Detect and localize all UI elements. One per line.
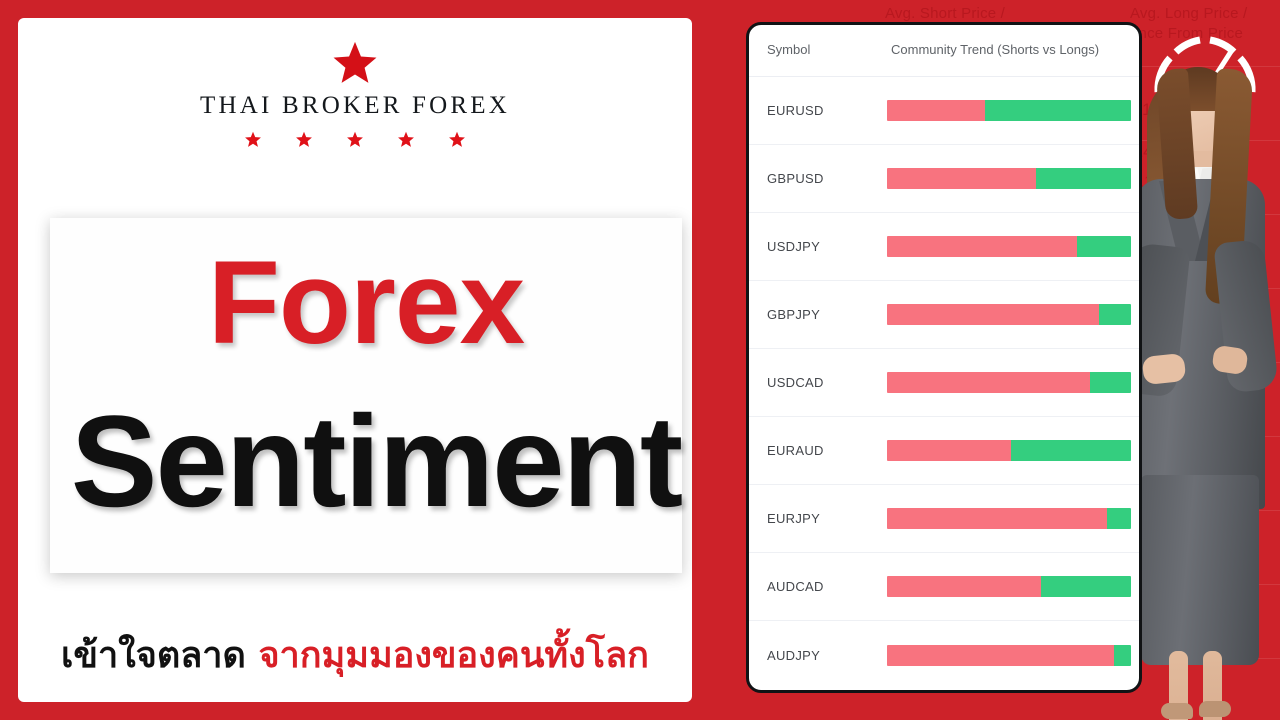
sentiment-bar-longs <box>1041 576 1131 597</box>
bg-column-header-short: Avg. Short Price / <box>885 4 1005 24</box>
subtitle-red-part: จากมุมมองของคนทั้งโลก <box>258 635 649 676</box>
column-header-symbol: Symbol <box>767 42 810 57</box>
table-row[interactable]: GBPUSD <box>749 145 1139 213</box>
headline-line-1: Forex <box>50 244 682 362</box>
table-row[interactable]: EURAUD <box>749 417 1139 485</box>
sentiment-bar-longs <box>1114 645 1131 666</box>
star-icon <box>295 131 313 148</box>
sentiment-bar <box>887 440 1131 461</box>
subtitle-black-part: เข้าใจตลาด <box>61 635 246 676</box>
table-row[interactable]: EURUSD <box>749 77 1139 145</box>
sentiment-bar-shorts <box>887 372 1090 393</box>
sentiment-bar-shorts <box>887 168 1036 189</box>
row-symbol: USDCAD <box>767 375 824 390</box>
row-symbol: AUDJPY <box>767 648 820 663</box>
sentiment-bar-longs <box>1036 168 1131 189</box>
sentiment-bar-shorts <box>887 645 1114 666</box>
table-row[interactable]: GBPJPY <box>749 281 1139 349</box>
sentiment-bar <box>887 576 1131 597</box>
row-symbol: GBPJPY <box>767 307 820 322</box>
star-icon <box>448 131 466 148</box>
sentiment-table-header: Symbol Community Trend (Shorts vs Longs) <box>749 25 1139 77</box>
sentiment-bar <box>887 645 1131 666</box>
row-symbol: GBPUSD <box>767 171 824 186</box>
sentiment-bar <box>887 100 1131 121</box>
brand-name: THAI BROKER FOREX <box>18 92 692 120</box>
left-panel: THAI BROKER FOREX Forex Sentiment เข้าใจ… <box>18 18 692 702</box>
sentiment-bar-longs <box>1107 508 1131 529</box>
subtitle: เข้าใจตลาด จากมุมมองของคนทั้งโลก <box>18 638 692 674</box>
headline-line-2: Sentiment <box>34 396 718 526</box>
sentiment-bar-shorts <box>887 100 985 121</box>
sentiment-bar-longs <box>985 100 1131 121</box>
sentiment-table-body: EURUSDGBPUSDUSDJPYGBPJPYUSDCADEURAUDEURJ… <box>749 77 1139 689</box>
sentiment-bar-shorts <box>887 576 1041 597</box>
sentiment-bar-longs <box>1090 372 1131 393</box>
star-icon <box>346 131 364 148</box>
sentiment-bar <box>887 508 1131 529</box>
row-symbol: AUDCAD <box>767 579 824 594</box>
presenter-photo <box>1125 55 1280 720</box>
sentiment-bar <box>887 236 1131 257</box>
row-symbol: EURUSD <box>767 103 824 118</box>
sentiment-bar-longs <box>1011 440 1131 461</box>
table-row[interactable]: AUDCAD <box>749 553 1139 621</box>
star-icon <box>331 40 379 86</box>
column-header-trend: Community Trend (Shorts vs Longs) <box>891 42 1099 57</box>
sentiment-bar <box>887 372 1131 393</box>
row-symbol: USDJPY <box>767 239 820 254</box>
sentiment-bar-shorts <box>887 440 1011 461</box>
row-symbol: EURAUD <box>767 443 824 458</box>
sentiment-bar-shorts <box>887 304 1099 325</box>
sentiment-bar-longs <box>1077 236 1131 257</box>
sentiment-bar-shorts <box>887 508 1107 529</box>
sentiment-card: Symbol Community Trend (Shorts vs Longs)… <box>746 22 1142 693</box>
row-symbol: EURJPY <box>767 511 820 526</box>
table-row[interactable]: USDJPY <box>749 213 1139 281</box>
table-row[interactable]: AUDJPY <box>749 621 1139 689</box>
sentiment-bar-shorts <box>887 236 1077 257</box>
brand-star-row <box>18 131 692 148</box>
star-icon <box>397 131 415 148</box>
headline-box: Forex Sentiment <box>50 218 682 573</box>
sentiment-bar-longs <box>1099 304 1131 325</box>
star-icon <box>244 131 262 148</box>
table-row[interactable]: USDCAD <box>749 349 1139 417</box>
sentiment-bar <box>887 168 1131 189</box>
brand-logo: THAI BROKER FOREX <box>18 40 692 148</box>
table-row[interactable]: EURJPY <box>749 485 1139 553</box>
sentiment-bar <box>887 304 1131 325</box>
